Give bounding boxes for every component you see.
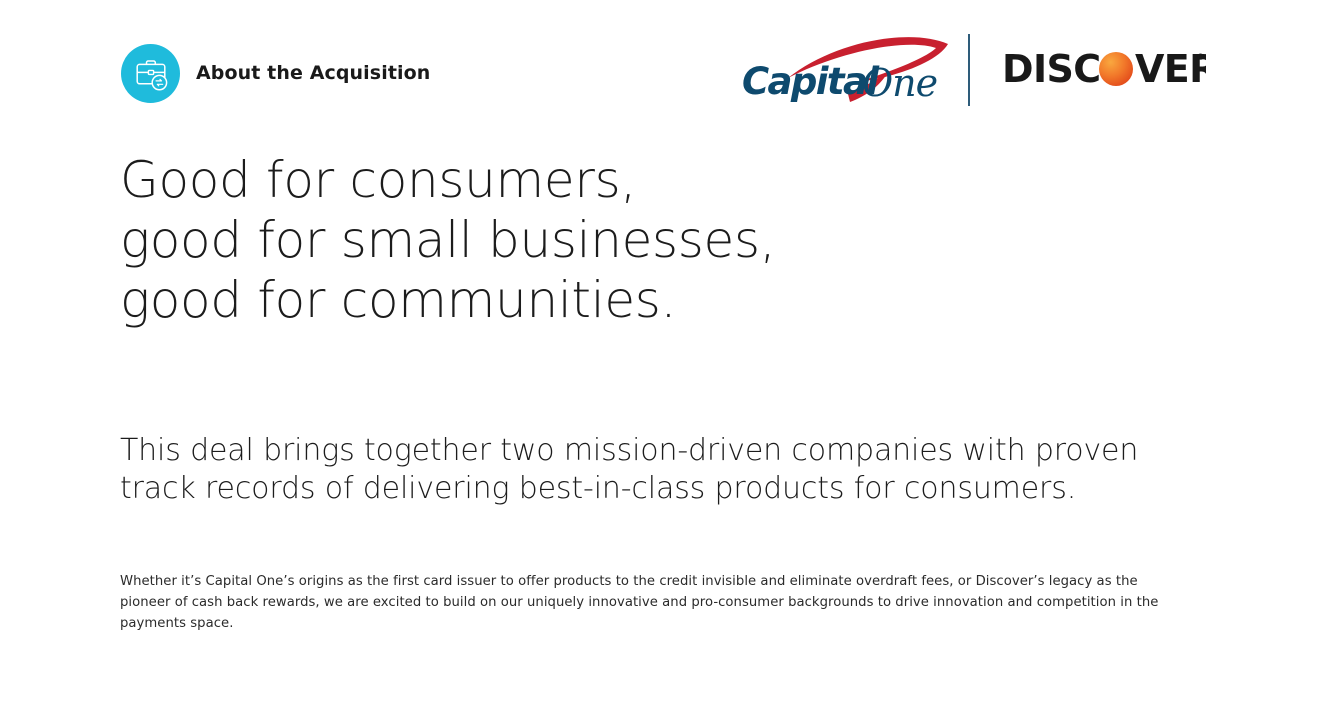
body-paragraph: Whether it’s Capital One’s origins as th… [120,571,1186,634]
headline-line-1: Good for consumers, [120,150,1200,210]
slide-canvas: About the Acquisition Capital One [0,0,1318,706]
section-eyebrow: About the Acquisition [121,44,430,103]
subheading: This deal brings together two mission-dr… [120,432,1195,508]
briefcase-exchange-icon [133,57,169,91]
page-title: Good for consumers, good for small busin… [120,150,1200,330]
discover-registered-mark: ® [1196,53,1205,63]
discover-text-before: DISC [1002,47,1101,91]
capital-one-word-one: One [862,61,937,105]
capital-one-logo: Capital One [740,30,956,110]
eyebrow-badge [121,44,180,103]
logo-lockup: Capital One DISC VER ® [740,30,1206,110]
discover-logo: DISC VER ® [1002,47,1206,93]
subhead-line-1: This deal brings together two mission-dr… [120,432,1195,470]
headline-line-3: good for communities. [120,270,1200,330]
eyebrow-label: About the Acquisition [196,64,430,83]
discover-orange-circle [1099,52,1133,86]
headline-line-2: good for small businesses, [120,210,1200,270]
logo-divider [968,34,970,106]
subhead-line-2: track records of delivering best-in-clas… [120,470,1195,508]
capital-one-word-capital: Capital [742,60,880,103]
